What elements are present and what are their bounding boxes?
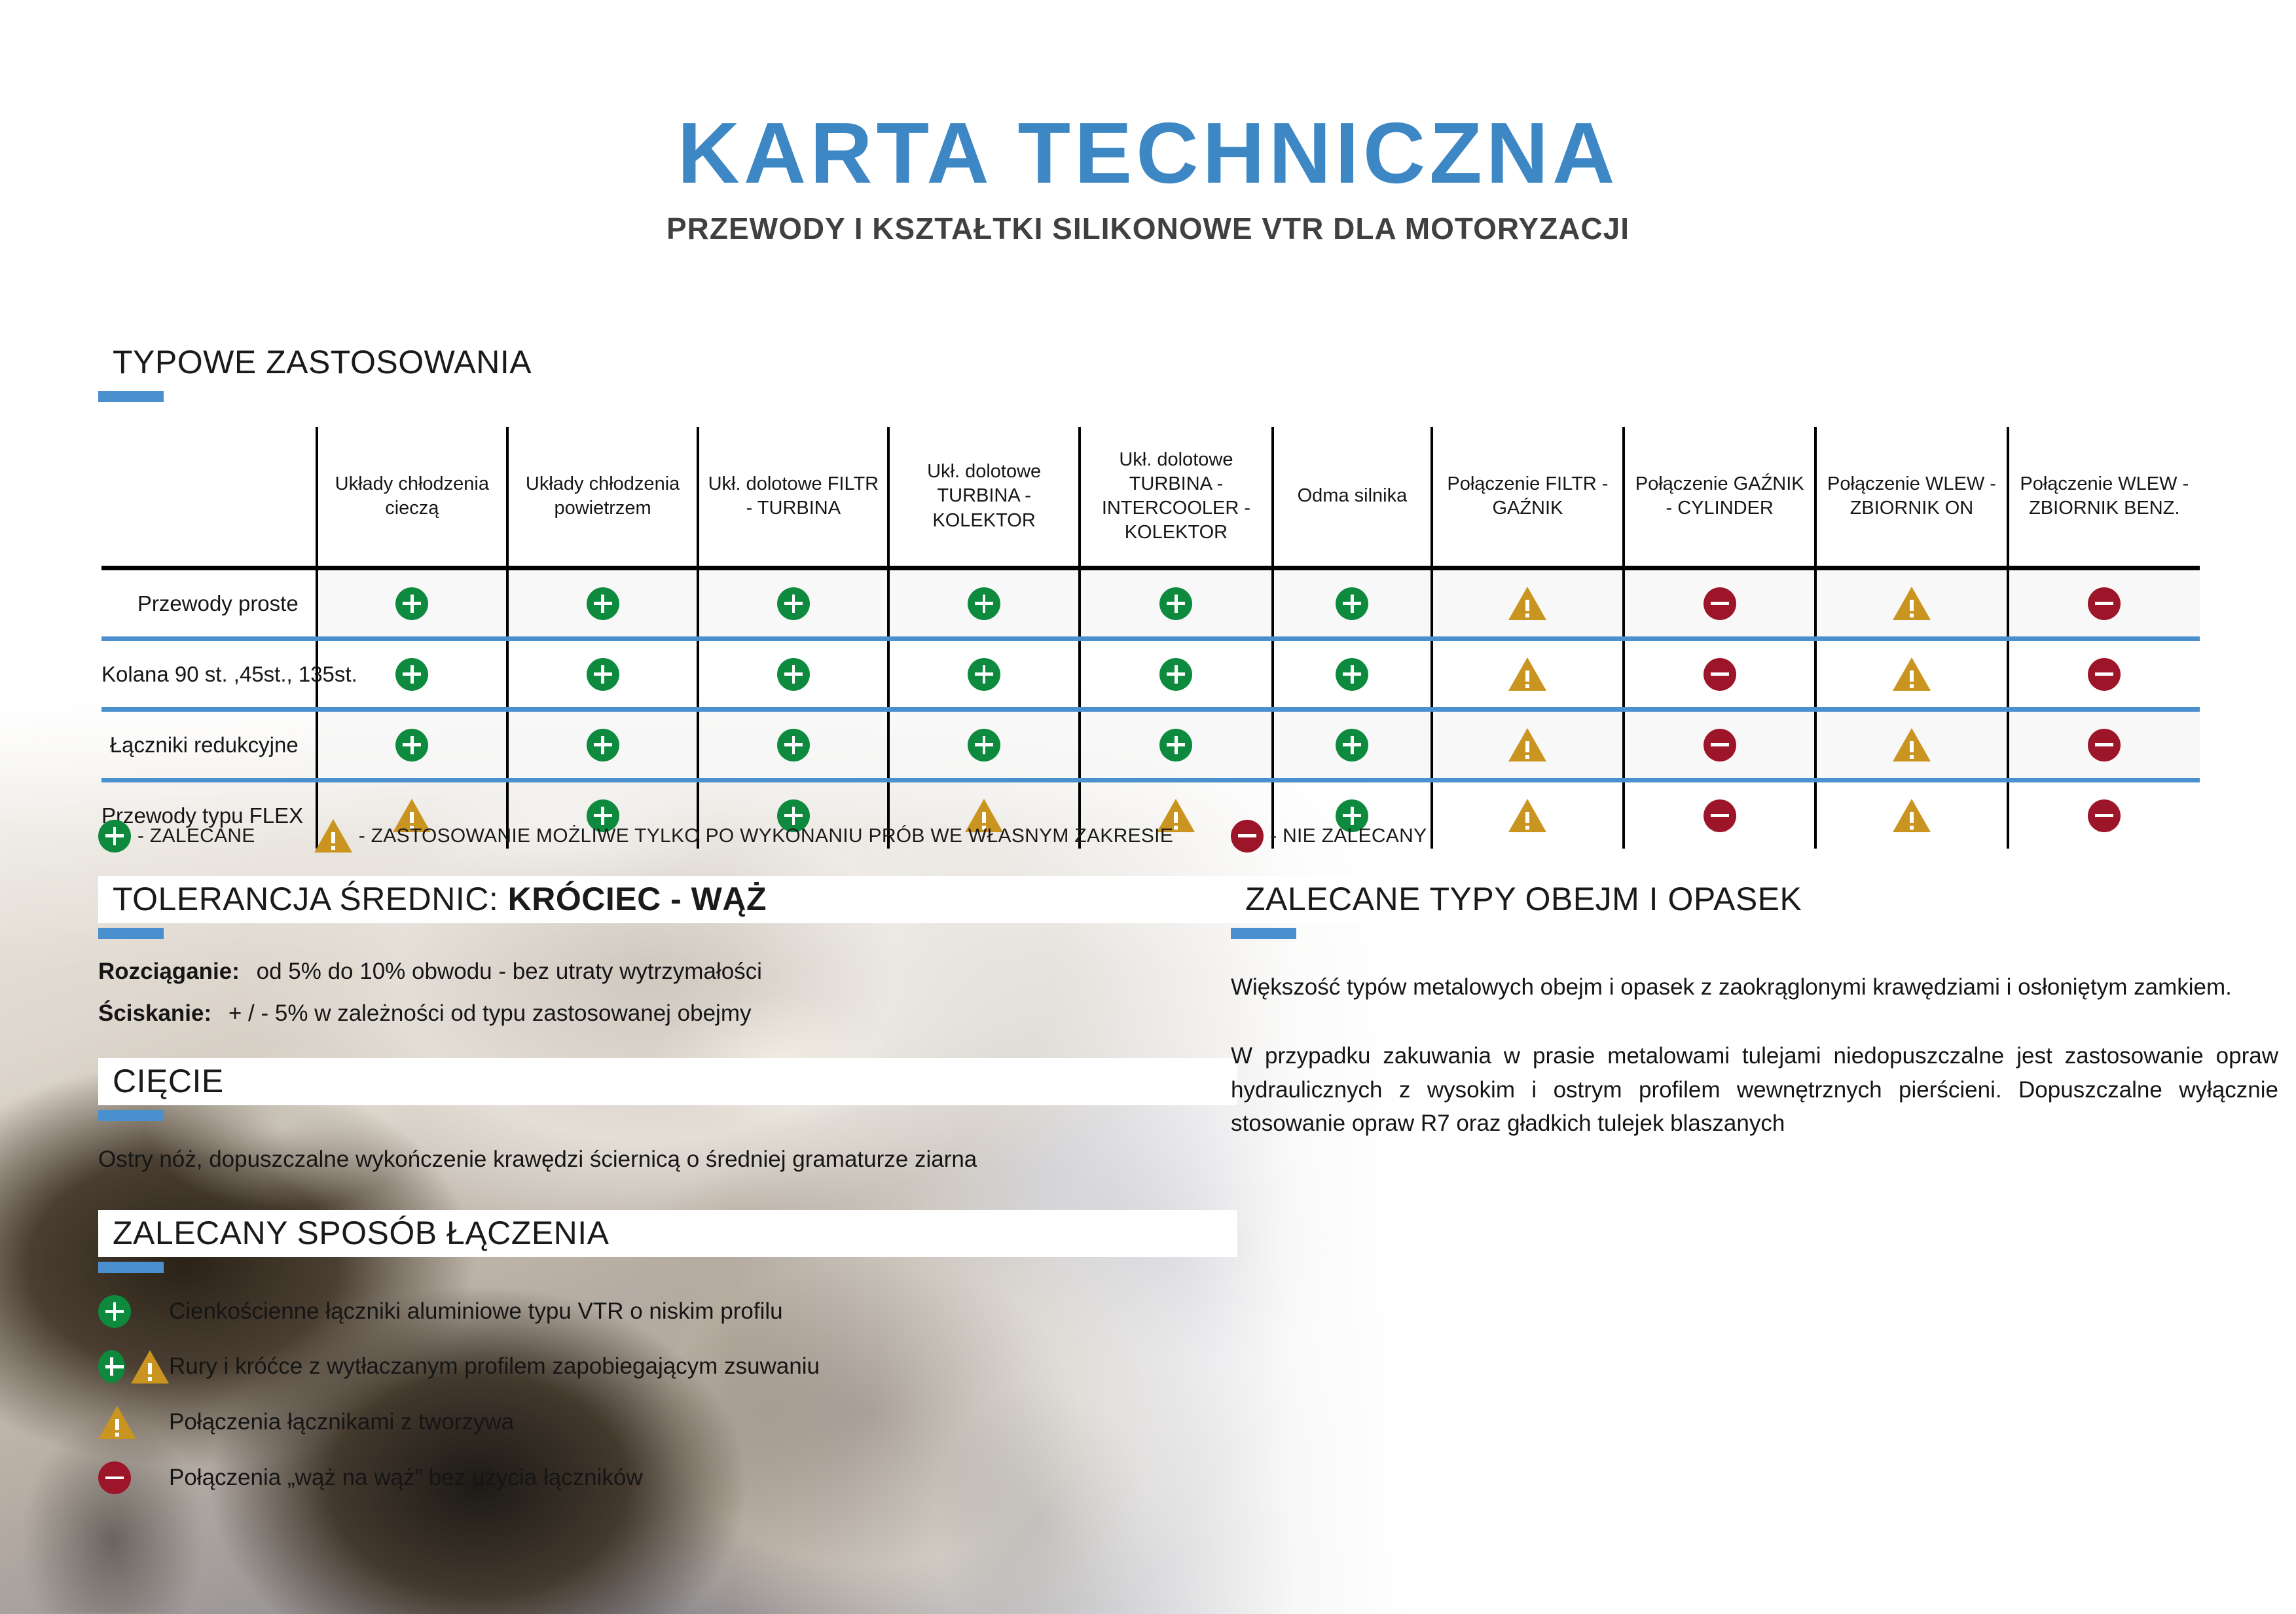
- tolerance-title-bold: KRÓCIEC - WĄŻ: [508, 881, 767, 917]
- status-cell: [507, 710, 698, 780]
- status-cell: [1624, 639, 1815, 710]
- warning-icon: [1508, 728, 1546, 761]
- warning-icon: [1508, 799, 1546, 832]
- column-header: Układy chłodzenia powietrzem: [507, 427, 698, 568]
- status-cell: [1815, 568, 2007, 639]
- status-cell: [888, 639, 1079, 710]
- list-item-icons: [98, 1295, 169, 1328]
- applications-matrix: Układy chłodzenia cieczą Układy chłodzen…: [101, 427, 2200, 849]
- plus-icon: [968, 587, 1000, 620]
- tolerance-stretch-row: Rozciąganie: od 5% do 10% obwodu - bez u…: [98, 959, 1237, 985]
- status-cell: [1080, 568, 1273, 639]
- clamps-section-rule: [1231, 928, 1296, 939]
- matrix-section-heading: TYPOWE ZASTOSOWANIA: [98, 339, 532, 402]
- minus-icon: [1231, 820, 1264, 853]
- clamps-paragraph-1: Większość typów metalowych obejm i opase…: [1231, 970, 2278, 1004]
- cutting-section-heading: CIĘCIE: [98, 1058, 1237, 1121]
- tolerance-stretch-value: od 5% do 10% obwodu - bez utraty wytrzym…: [257, 959, 762, 984]
- status-cell: [1815, 710, 2007, 780]
- status-cell: [888, 710, 1079, 780]
- joining-section-heading: ZALECANY SPOSÓB ŁĄCZENIA: [98, 1210, 1237, 1273]
- status-cell: [507, 639, 698, 710]
- tolerance-compress-label: Ściskanie:: [98, 1000, 211, 1026]
- plus-icon: [777, 658, 810, 691]
- table-row: Przewody proste: [101, 568, 2200, 639]
- plus-icon: [587, 587, 619, 620]
- minus-icon: [2088, 729, 2121, 761]
- plus-icon: [968, 729, 1000, 761]
- status-cell: [698, 568, 888, 639]
- list-item: Połączenia łącznikami z tworzywa: [98, 1406, 1237, 1439]
- cutting-section-rule: [98, 1110, 164, 1121]
- left-column: TOLERANCJA ŚREDNIC: KRÓCIEC - WĄŻ Rozcią…: [98, 876, 1237, 1516]
- status-cell: [888, 568, 1079, 639]
- minus-icon: [98, 1461, 131, 1494]
- matrix-section-title: TYPOWE ZASTOSOWANIA: [98, 339, 532, 386]
- column-header: Połączenie WLEW - ZBIORNIK BENZ.: [2008, 427, 2200, 568]
- tolerance-compress-row: Ściskanie: + / - 5% w zależności od typu…: [98, 1000, 1237, 1027]
- table-head: Układy chłodzenia cieczą Układy chłodzen…: [101, 427, 2200, 568]
- plus-icon: [1336, 658, 1368, 691]
- column-header: Połączenie GAŹNIK - CYLINDER: [1624, 427, 1815, 568]
- tolerance-section-title: TOLERANCJA ŚREDNIC: KRÓCIEC - WĄŻ: [98, 876, 1237, 923]
- status-legend: - ZALECANE - ZASTOSOWANIE MOŻLIWE TYLKO …: [98, 819, 1427, 853]
- minus-icon: [2088, 587, 2121, 620]
- plus-icon: [98, 820, 131, 853]
- list-item-label: Rury i króćce z wytłaczanym profilem zap…: [169, 1353, 820, 1380]
- status-cell: [1273, 568, 1432, 639]
- warning-icon: [131, 1350, 169, 1384]
- status-cell: [1432, 639, 1624, 710]
- status-cell: [698, 710, 888, 780]
- page-title: KARTA TECHNICZNA: [0, 110, 2296, 196]
- clamps-section-heading: ZALECANE TYPY OBEJM I OPASEK: [1231, 876, 2278, 939]
- warning-icon: [1508, 657, 1546, 691]
- status-cell: [1624, 568, 1815, 639]
- column-header-blank: [101, 427, 317, 568]
- warning-icon: [1893, 728, 1931, 761]
- legend-item-caution: - ZASTOSOWANIE MOŻLIWE TYLKO PO WYKONANI…: [314, 819, 1173, 853]
- minus-icon: [1704, 799, 1736, 832]
- list-item-icons: [98, 1406, 169, 1439]
- status-cell: [1273, 710, 1432, 780]
- warning-icon: [98, 1406, 136, 1439]
- status-cell: [2008, 639, 2200, 710]
- minus-icon: [1704, 658, 1736, 691]
- status-cell: [507, 568, 698, 639]
- table-row: Kolana 90 st. ,45st., 135st.: [101, 639, 2200, 710]
- list-item-icons: [98, 1350, 169, 1384]
- table-body: Przewody prosteKolana 90 st. ,45st., 135…: [101, 568, 2200, 849]
- minus-icon: [1704, 587, 1736, 620]
- tolerance-title-normal: TOLERANCJA ŚREDNIC:: [113, 881, 508, 917]
- plus-icon: [98, 1295, 131, 1328]
- row-label: Łączniki redukcyjne: [101, 710, 317, 780]
- status-cell: [2008, 780, 2200, 849]
- column-header: Ukł. dolotowe TURBINA - KOLEKTOR: [888, 427, 1079, 568]
- plus-icon: [1336, 729, 1368, 761]
- cutting-text: Ostry nóż, dopuszczalne wykończenie kraw…: [98, 1143, 1120, 1176]
- plus-icon: [587, 729, 619, 761]
- status-cell: [1815, 639, 2007, 710]
- tolerance-compress-value: + / - 5% w zależności od typu zastosowan…: [228, 1000, 752, 1026]
- column-header: Odma silnika: [1273, 427, 1432, 568]
- list-item-icons: [98, 1461, 169, 1494]
- status-cell: [1624, 780, 1815, 849]
- page-subtitle: PRZEWODY I KSZTAŁTKI SILIKONOWE VTR DLA …: [0, 213, 2296, 244]
- matrix-section-rule: [98, 391, 164, 402]
- legend-label-not-recommended: - NIE ZALECANY: [1270, 825, 1427, 847]
- clamps-paragraph-2: W przypadku zakuwania w prasie metalowam…: [1231, 1039, 2278, 1140]
- list-item-label: Połączenia „wąż na wąż” bez użycia łączn…: [169, 1464, 643, 1492]
- document-header: KARTA TECHNICZNA PRZEWODY I KSZTAŁTKI SI…: [0, 0, 2296, 244]
- minus-icon: [2088, 799, 2121, 832]
- row-label: Przewody proste: [101, 568, 317, 639]
- column-header: Połączenie FILTR - GAŹNIK: [1432, 427, 1624, 568]
- joining-list: Cienkościenne łączniki aluminiowe typu V…: [98, 1295, 1237, 1494]
- plus-icon: [395, 587, 428, 620]
- plus-icon: [1159, 587, 1192, 620]
- status-cell: [1080, 639, 1273, 710]
- warning-icon: [1508, 587, 1546, 620]
- list-item: Połączenia „wąż na wąż” bez użycia łączn…: [98, 1461, 1237, 1494]
- status-cell: [317, 710, 507, 780]
- right-column: ZALECANE TYPY OBEJM I OPASEK Większość t…: [1231, 876, 2278, 1141]
- plus-icon: [395, 729, 428, 761]
- status-cell: [1432, 710, 1624, 780]
- plus-icon: [1336, 587, 1368, 620]
- table-row: Łączniki redukcyjne: [101, 710, 2200, 780]
- plus-icon: [98, 1350, 125, 1383]
- column-header: Ukł. dolotowe TURBINA - INTERCOOLER - KO…: [1080, 427, 1273, 568]
- minus-icon: [2088, 658, 2121, 691]
- list-item: Rury i króćce z wytłaczanym profilem zap…: [98, 1350, 1237, 1384]
- joining-section-rule: [98, 1262, 164, 1273]
- tolerance-section-heading: TOLERANCJA ŚREDNIC: KRÓCIEC - WĄŻ: [98, 876, 1237, 939]
- legend-item-recommended: - ZALECANE: [98, 820, 255, 853]
- plus-icon: [395, 658, 428, 691]
- tolerance-section-rule: [98, 928, 164, 939]
- row-label: Kolana 90 st. ,45st., 135st.: [101, 639, 317, 710]
- status-cell: [1432, 568, 1624, 639]
- plus-icon: [777, 587, 810, 620]
- legend-label-caution: - ZASTOSOWANIE MOŻLIWE TYLKO PO WYKONANI…: [359, 825, 1173, 847]
- status-cell: [317, 568, 507, 639]
- plus-icon: [1159, 729, 1192, 761]
- plus-icon: [1159, 658, 1192, 691]
- status-cell: [1624, 710, 1815, 780]
- clamps-section-title: ZALECANE TYPY OBEJM I OPASEK: [1231, 876, 2278, 923]
- minus-icon: [1704, 729, 1736, 761]
- applications-table: Układy chłodzenia cieczą Układy chłodzen…: [101, 427, 2200, 849]
- plus-icon: [777, 729, 810, 761]
- list-item: Cienkościenne łączniki aluminiowe typu V…: [98, 1295, 1237, 1328]
- status-cell: [1432, 780, 1624, 849]
- table-header-row: Układy chłodzenia cieczą Układy chłodzen…: [101, 427, 2200, 568]
- list-item-label: Cienkościenne łączniki aluminiowe typu V…: [169, 1298, 783, 1325]
- joining-section-title: ZALECANY SPOSÓB ŁĄCZENIA: [98, 1210, 1237, 1257]
- legend-item-not-recommended: - NIE ZALECANY: [1231, 820, 1427, 853]
- status-cell: [2008, 710, 2200, 780]
- warning-icon: [1893, 799, 1931, 832]
- status-cell: [698, 639, 888, 710]
- column-header: Ukł. dolotowe FILTR - TURBINA: [698, 427, 888, 568]
- legend-label-recommended: - ZALECANE: [137, 825, 255, 847]
- cutting-section-title: CIĘCIE: [98, 1058, 1237, 1105]
- tolerance-stretch-label: Rozciąganie:: [98, 959, 240, 984]
- warning-icon: [314, 819, 352, 853]
- list-item-label: Połączenia łącznikami z tworzywa: [169, 1408, 514, 1436]
- status-cell: [1273, 639, 1432, 710]
- plus-icon: [587, 658, 619, 691]
- column-header: Układy chłodzenia cieczą: [317, 427, 507, 568]
- status-cell: [2008, 568, 2200, 639]
- status-cell: [1080, 710, 1273, 780]
- warning-icon: [1893, 587, 1931, 620]
- warning-icon: [1893, 657, 1931, 691]
- column-header: Połączenie WLEW - ZBIORNIK ON: [1815, 427, 2007, 568]
- plus-icon: [968, 658, 1000, 691]
- status-cell: [1815, 780, 2007, 849]
